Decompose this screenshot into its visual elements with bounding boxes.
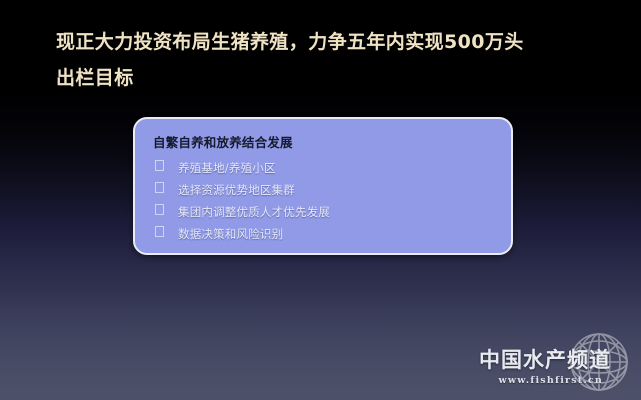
card-bullet-list: 养殖基地/养殖小区 选择资源优势地区集群 集团内调整优质人才优先发展 数据决策和… [153,157,493,245]
list-item-label: 选择资源优势地区集群 [178,179,493,201]
presentation-slide: 现正大力投资布局生猪养殖，力争五年内实现500万头 出栏目标 自繁自养和放养结合… [0,0,641,400]
slide-title: 现正大力投资布局生猪养殖，力争五年内实现500万头 出栏目标 [56,24,586,96]
watermark-brand: 中国水产频道 [479,344,611,374]
list-item: 养殖基地/养殖小区 [153,157,493,179]
hollow-square-bullet-icon [155,160,164,171]
list-item-label: 数据决策和风险识别 [178,223,493,245]
hollow-square-bullet-icon [155,226,164,237]
hollow-square-bullet-icon [155,204,164,215]
hollow-square-bullet-icon [155,182,164,193]
watermark-url: www.fishfirst.cn [499,375,603,386]
watermark: 中国水产频道 www.fishfirst.cn [433,330,633,396]
list-item: 数据决策和风险识别 [153,223,493,245]
slide-title-line-2: 出栏目标 [56,60,586,96]
list-item: 集团内调整优质人才优先发展 [153,201,493,223]
slide-title-line-1: 现正大力投资布局生猪养殖，力争五年内实现500万头 [56,24,586,60]
card-heading: 自繁自养和放养结合发展 [153,133,493,153]
list-item: 选择资源优势地区集群 [153,179,493,201]
list-item-label: 集团内调整优质人才优先发展 [178,201,493,223]
list-item-label: 养殖基地/养殖小区 [178,157,493,179]
content-card: 自繁自养和放养结合发展 养殖基地/养殖小区 选择资源优势地区集群 集团内调整优质… [133,117,513,255]
